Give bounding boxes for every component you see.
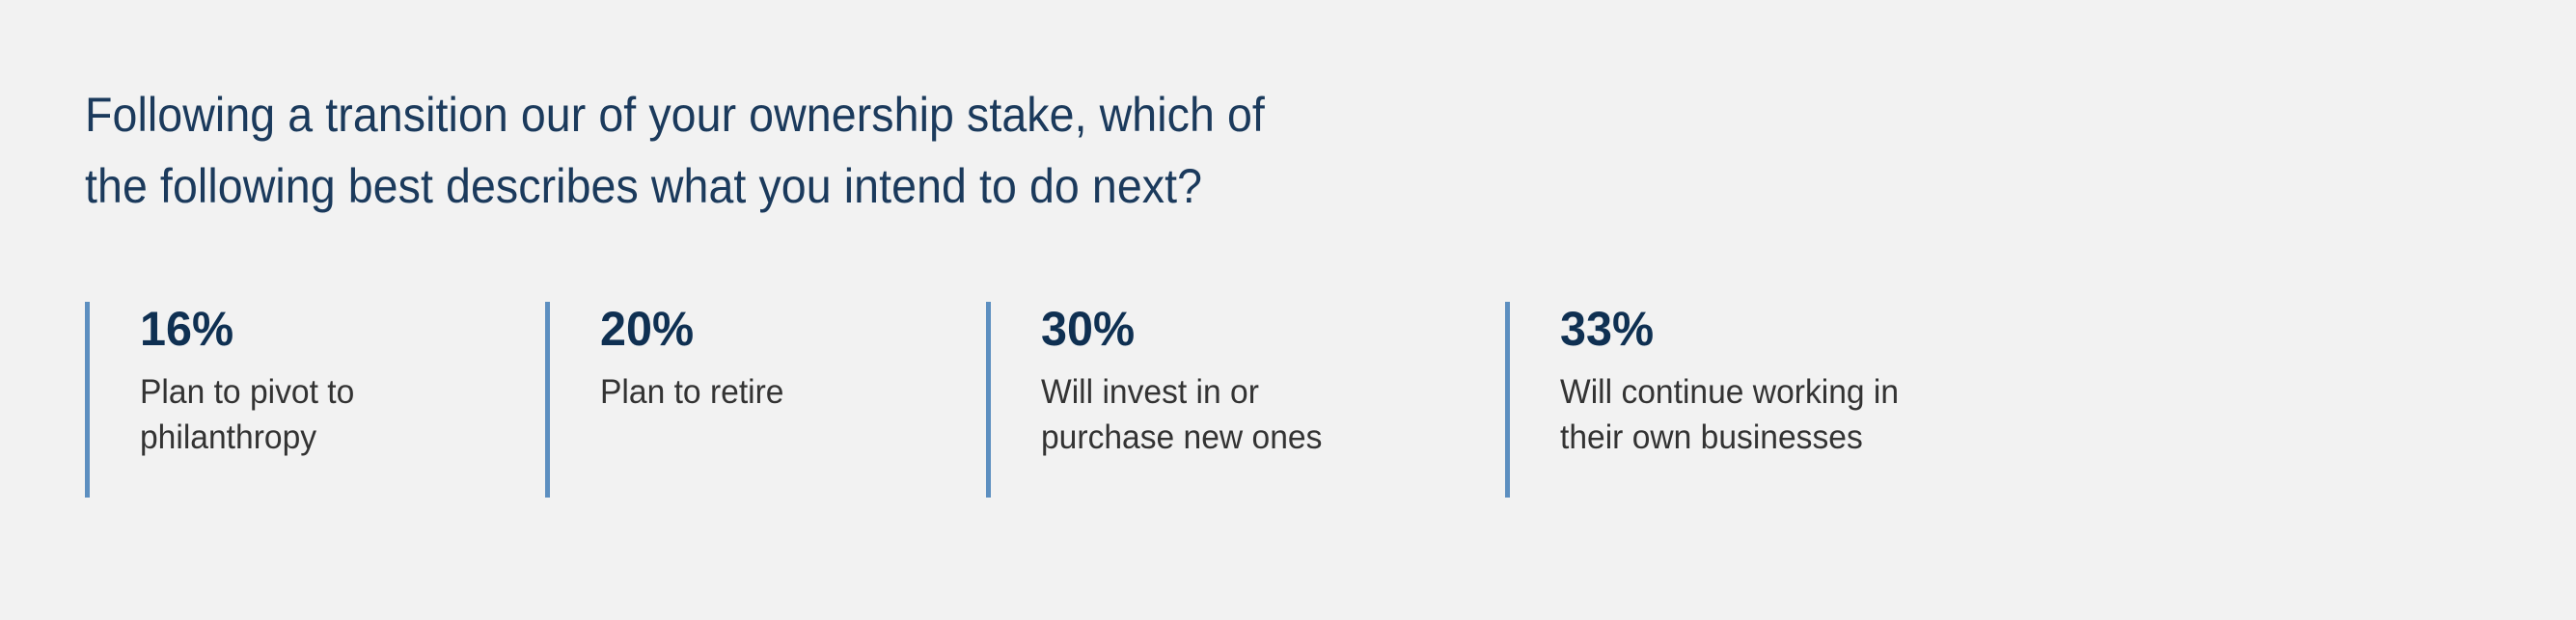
stat-label-line-2: philanthropy <box>140 415 354 460</box>
stat-item-invest: 30% Will invest in or purchase new ones <box>986 302 1505 498</box>
page-title-line-2: the following best describes what you in… <box>85 150 1610 222</box>
page-title: Following a transition our of your owner… <box>85 79 1610 222</box>
stat-label-line-2: their own businesses <box>1560 415 1899 460</box>
stat-body: 20% Plan to retire <box>550 302 791 415</box>
stat-value: 33% <box>1560 302 1903 356</box>
stat-item-retire: 20% Plan to retire <box>545 302 986 498</box>
stat-value: 16% <box>140 302 357 356</box>
stat-label: Will continue working in their own busin… <box>1560 369 1899 460</box>
stat-value: 20% <box>600 302 785 356</box>
stat-body: 30% Will invest in or purchase new ones <box>991 302 1334 460</box>
stats-row: 16% Plan to pivot to philanthropy 20% Pl… <box>85 302 2084 498</box>
stat-item-continue-working: 33% Will continue working in their own b… <box>1505 302 2084 498</box>
stat-item-philanthropy: 16% Plan to pivot to philanthropy <box>85 302 545 498</box>
stat-value: 30% <box>1041 302 1325 356</box>
stat-label-line-1: Will invest in or <box>1041 369 1322 415</box>
stat-callout-infographic: Following a transition our of your owner… <box>0 0 2576 620</box>
stat-body: 16% Plan to pivot to philanthropy <box>90 302 364 460</box>
stat-label-line-1: Plan to pivot to <box>140 369 354 415</box>
stat-label: Plan to retire <box>600 369 784 415</box>
stat-label: Plan to pivot to philanthropy <box>140 369 354 460</box>
stat-label-line-2: purchase new ones <box>1041 415 1322 460</box>
stat-body: 33% Will continue working in their own b… <box>1510 302 1913 460</box>
stat-label-line-1: Plan to retire <box>600 369 784 415</box>
page-title-line-1: Following a transition our of your owner… <box>85 79 1610 150</box>
stat-label: Will invest in or purchase new ones <box>1041 369 1322 460</box>
stat-label-line-1: Will continue working in <box>1560 369 1899 415</box>
